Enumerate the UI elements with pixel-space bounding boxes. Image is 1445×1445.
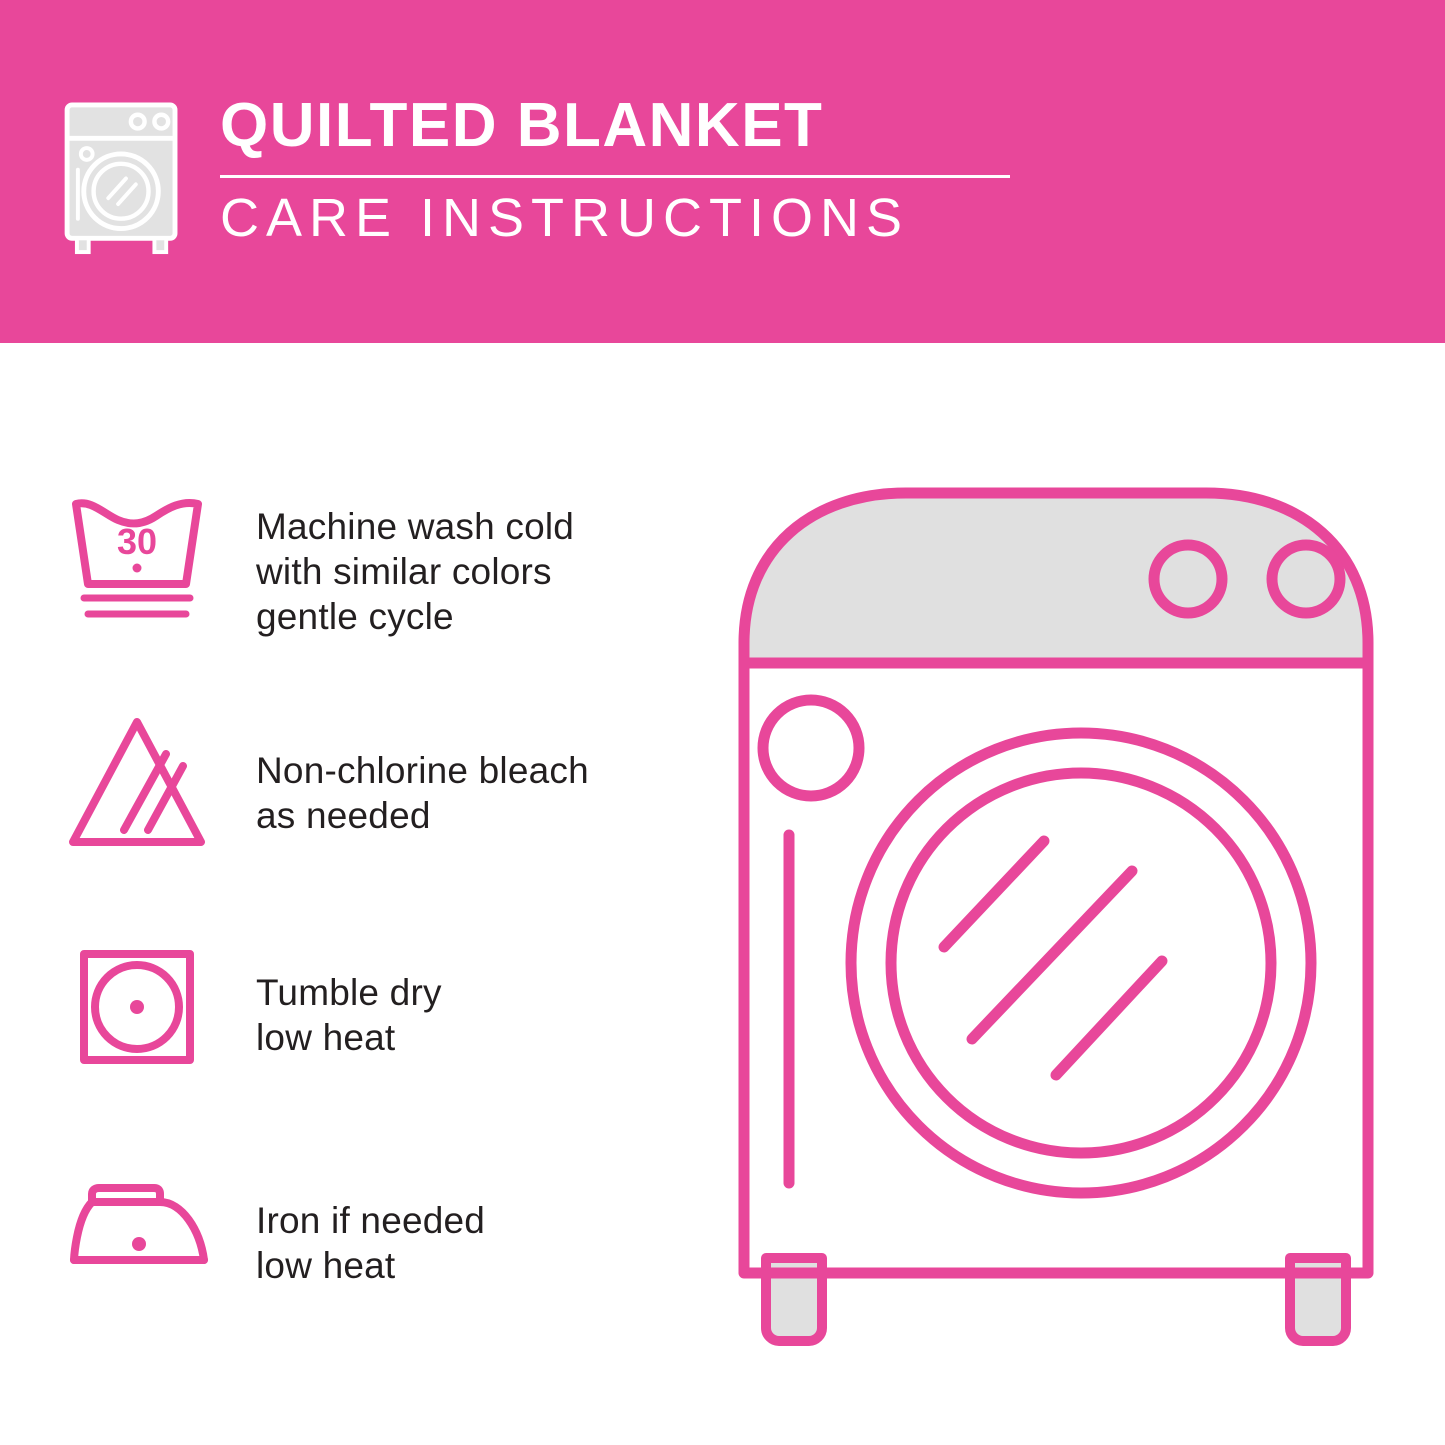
iron-low-heat-icon [62, 1158, 242, 1333]
wash-temperature-value: 30 [117, 521, 157, 562]
header-content: QUILTED BLANKET CARE INSTRUCTIONS [60, 95, 1010, 256]
title-divider [220, 175, 1010, 178]
non-chlorine-bleach-triangle-icon [62, 706, 242, 881]
washer-drum-inner [891, 773, 1271, 1153]
care-label-bleach: Non-chlorine bleach as needed [256, 748, 589, 838]
washer-indicator-light [763, 700, 859, 796]
page-subtitle: CARE INSTRUCTIONS [220, 190, 1010, 247]
care-row-tumble-dry: Tumble dry low heat [62, 932, 702, 1158]
washer-drum-outer [851, 733, 1311, 1193]
care-instruction-list: 30 Machine wash cold with similar colors… [62, 480, 702, 1384]
care-row-machine-wash: 30 Machine wash cold with similar colors… [62, 480, 702, 706]
header-banner: QUILTED BLANKET CARE INSTRUCTIONS [0, 0, 1445, 343]
care-row-bleach: Non-chlorine bleach as needed [62, 706, 702, 932]
care-label-iron: Iron if needed low heat [256, 1198, 485, 1288]
washer-drum-shine-lines [944, 841, 1162, 1075]
header-title-block: QUILTED BLANKET CARE INSTRUCTIONS [220, 95, 1010, 247]
care-row-iron: Iron if needed low heat [62, 1158, 702, 1384]
washing-machine-icon [60, 101, 188, 256]
wash-tub-30-icon: 30 [62, 480, 242, 655]
page-title: QUILTED BLANKET [220, 95, 1010, 157]
tumble-dry-low-icon [62, 932, 242, 1107]
large-washing-machine-illustration [726, 483, 1386, 1363]
care-label-tumble-dry: Tumble dry low heat [256, 970, 442, 1060]
care-label-machine-wash: Machine wash cold with similar colors ge… [256, 504, 574, 639]
